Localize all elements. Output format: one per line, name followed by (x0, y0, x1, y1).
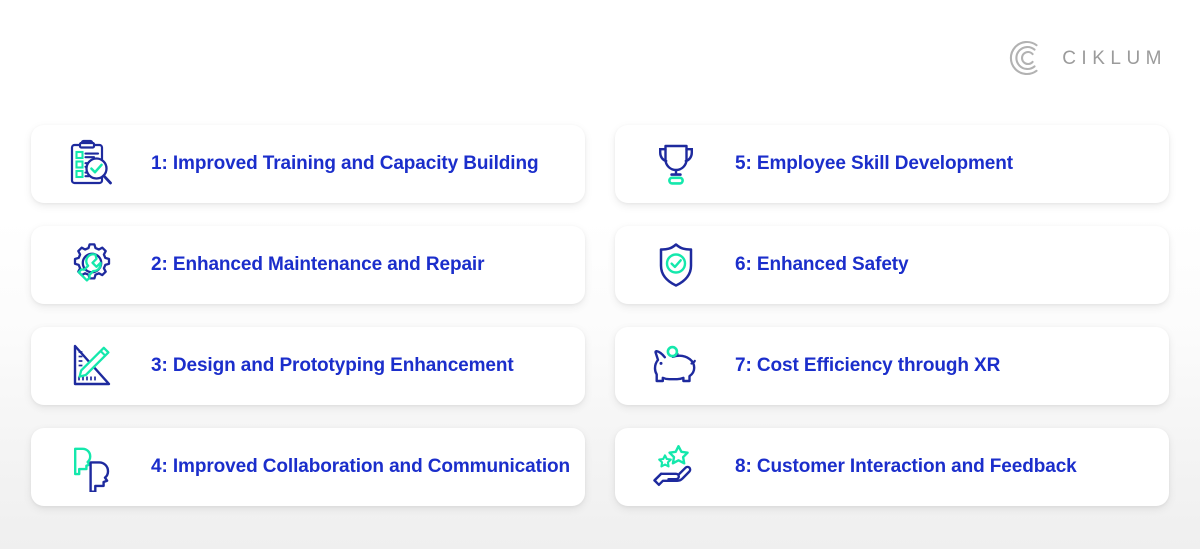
card-label: 6: Enhanced Safety (735, 255, 908, 276)
clipboard-checklist-magnifier-icon (61, 136, 123, 192)
card-label: 8: Customer Interaction and Feedback (735, 457, 1077, 478)
piggy-bank-coin-icon (645, 338, 707, 394)
card-item[interactable]: 2: Enhanced Maintenance and Repair (31, 226, 585, 304)
hand-stars-icon (645, 439, 707, 495)
gear-wrench-icon (61, 237, 123, 293)
shield-check-icon (645, 237, 707, 293)
card-label: 7: Cost Efficiency through XR (735, 356, 1000, 377)
card-item[interactable]: 5: Employee Skill Development (615, 125, 1169, 203)
card-item[interactable]: 4: Improved Collaboration and Communicat… (31, 428, 585, 506)
two-heads-icon (61, 439, 123, 495)
ciklum-arcs-logo-icon (1006, 38, 1046, 78)
benefits-grid: 1: Improved Training and Capacity Buildi… (31, 125, 1169, 506)
card-label: 2: Enhanced Maintenance and Repair (151, 255, 484, 276)
brand-logo: CIKLUM (1006, 38, 1167, 78)
card-label: 1: Improved Training and Capacity Buildi… (151, 154, 538, 175)
card-item[interactable]: 3: Design and Prototyping Enhancement (31, 327, 585, 405)
card-item[interactable]: 7: Cost Efficiency through XR (615, 327, 1169, 405)
brand-name: CIKLUM (1062, 49, 1167, 68)
card-label: 5: Employee Skill Development (735, 154, 1013, 175)
ruler-pencil-icon (61, 338, 123, 394)
card-label: 4: Improved Collaboration and Communicat… (151, 457, 570, 478)
card-item[interactable]: 8: Customer Interaction and Feedback (615, 428, 1169, 506)
card-label: 3: Design and Prototyping Enhancement (151, 356, 514, 377)
card-item[interactable]: 6: Enhanced Safety (615, 226, 1169, 304)
trophy-icon (645, 136, 707, 192)
card-item[interactable]: 1: Improved Training and Capacity Buildi… (31, 125, 585, 203)
page-header: CIKLUM (0, 0, 1200, 110)
page-root: CIKLUM (0, 0, 1200, 549)
